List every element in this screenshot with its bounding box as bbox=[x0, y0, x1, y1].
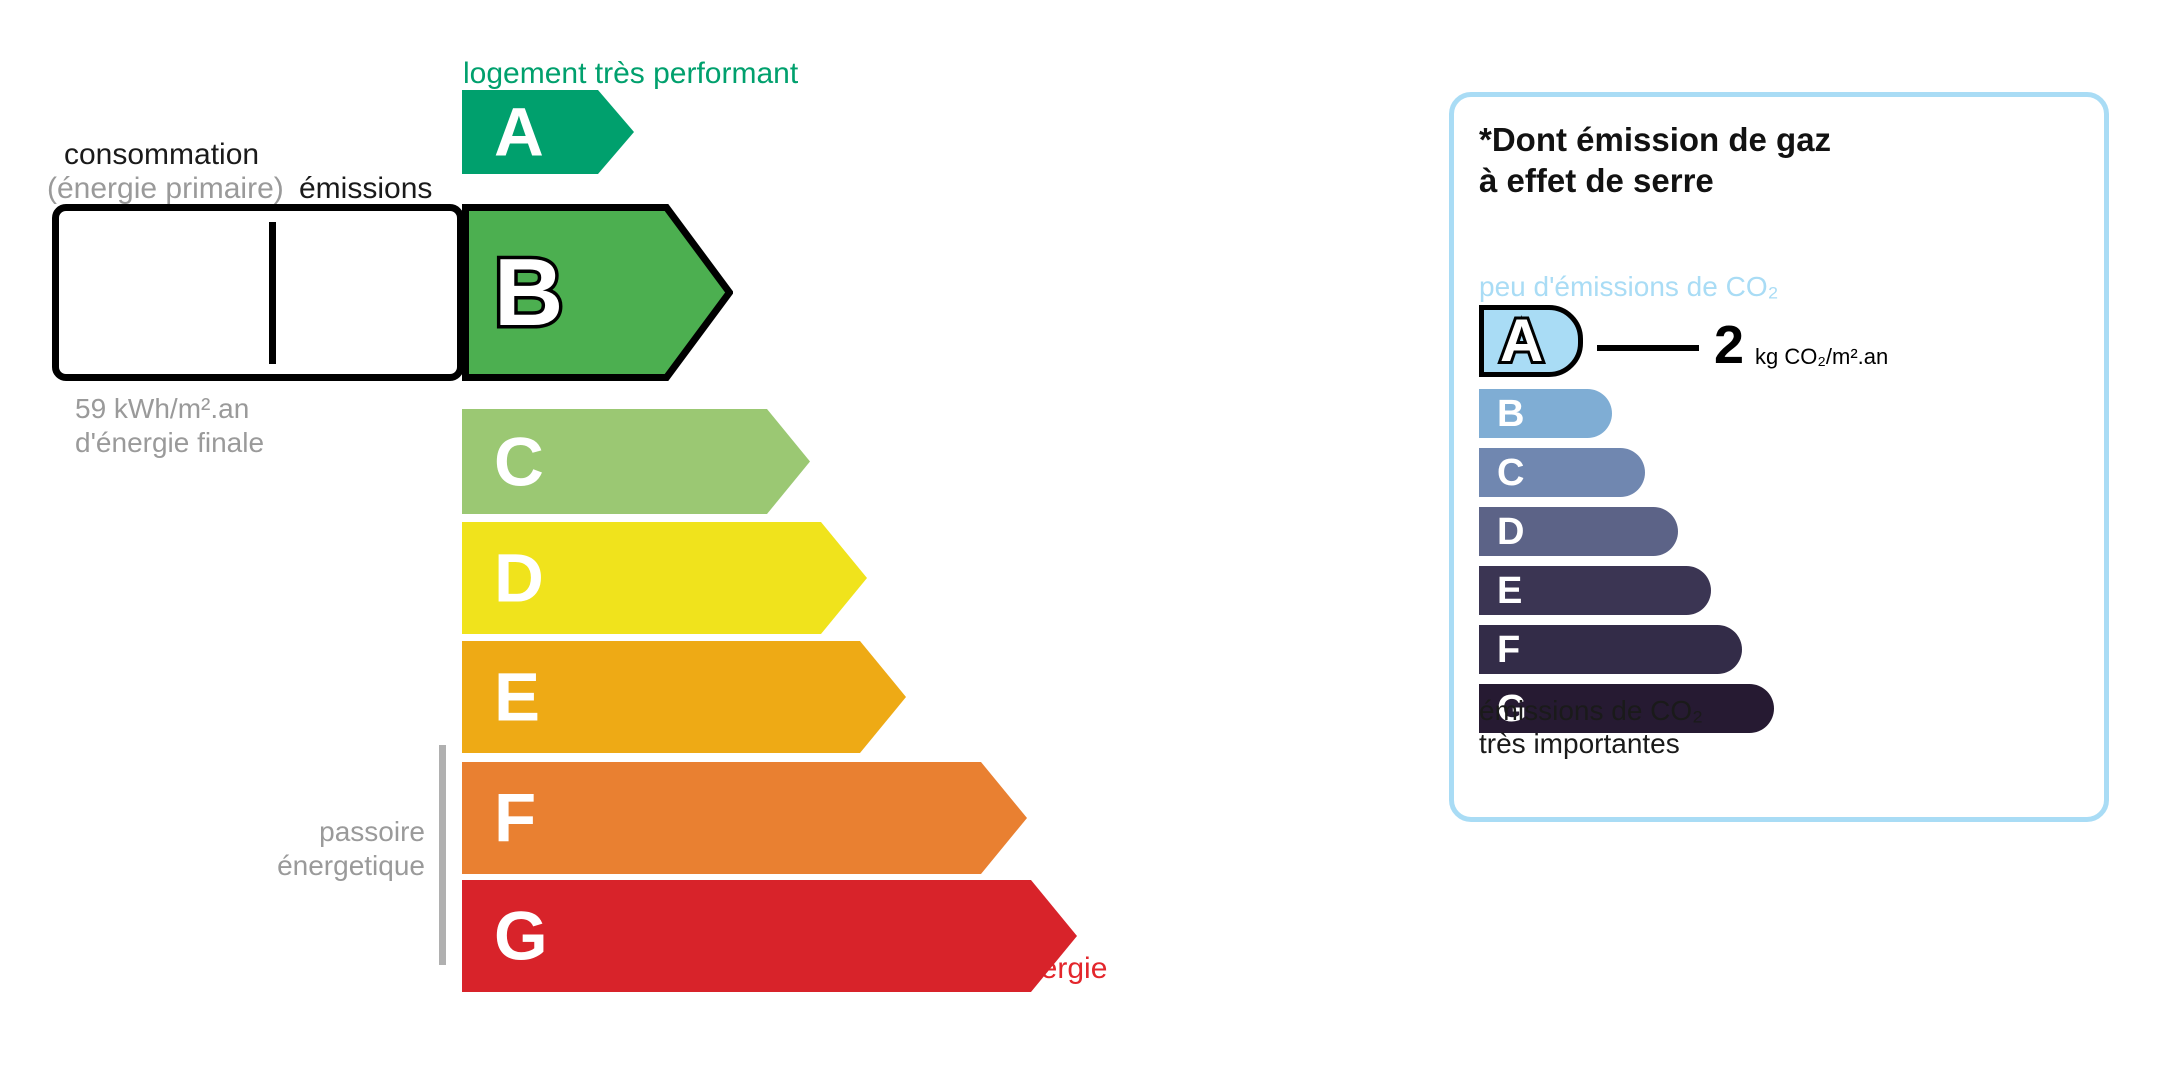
label-emissions: émissions bbox=[299, 172, 432, 206]
ges-connector-line bbox=[1597, 345, 1699, 351]
arrow-shape-c: C bbox=[462, 409, 810, 514]
ges-bar-letter-b: B bbox=[1497, 395, 1524, 433]
ges-bar-shape-e: E bbox=[1479, 566, 1711, 615]
ges-panel-title: *Dont émission de gazà effet de serre bbox=[1479, 119, 1831, 201]
final-energy-note: 59 kWh/m².and'énergie finale bbox=[75, 392, 264, 460]
energy-class-arrow-d: D bbox=[462, 522, 867, 634]
ges-top-label: peu d'émissions de CO₂ bbox=[1479, 271, 1778, 303]
ges-bar-shape-c: C bbox=[1479, 448, 1645, 497]
ges-class-bar-b: B bbox=[1479, 389, 1612, 438]
energy-class-arrow-e: E bbox=[462, 641, 906, 753]
arrow-shape-e: E bbox=[462, 641, 906, 753]
ges-bar-letter-a: A bbox=[1500, 311, 1543, 371]
energy-class-arrow-b: B bbox=[462, 204, 733, 381]
arrow-shape-a: A bbox=[462, 90, 634, 174]
ges-bar-letter-c: C bbox=[1497, 454, 1524, 492]
ges-class-bar-f: F bbox=[1479, 625, 1742, 674]
caption-top-performance: logement très performant bbox=[463, 57, 798, 91]
ges-bar-letter-d: D bbox=[1497, 513, 1524, 551]
value-box-divider bbox=[269, 222, 276, 364]
ges-class-bar-d: D bbox=[1479, 507, 1678, 556]
arrow-shape-d: D bbox=[462, 522, 867, 634]
arrow-shape-f: F bbox=[462, 762, 1027, 874]
value-box bbox=[52, 204, 464, 381]
energy-class-arrow-f: F bbox=[462, 762, 1027, 874]
ges-class-bar-c: C bbox=[1479, 448, 1645, 497]
ges-bar-shape-f: F bbox=[1479, 625, 1742, 674]
ges-bar-letter-e: E bbox=[1497, 572, 1522, 610]
passoire-marker-bar bbox=[439, 745, 446, 965]
energy-class-arrow-g: G bbox=[462, 880, 1077, 992]
ges-value: 2 bbox=[1714, 315, 1744, 375]
ges-class-bar-a: A bbox=[1479, 305, 1583, 377]
ges-bottom-label: émissions de CO₂très importantes bbox=[1479, 694, 1703, 760]
label-consommation: consommation bbox=[64, 138, 259, 172]
label-energie-primaire: (énergie primaire) bbox=[47, 172, 284, 206]
energy-class-arrow-c: C bbox=[462, 409, 810, 514]
ges-bar-shape-d: D bbox=[1479, 507, 1678, 556]
ges-class-bar-e: E bbox=[1479, 566, 1711, 615]
ges-bar-shape-b: B bbox=[1479, 389, 1612, 438]
arrow-shape-b: B bbox=[462, 204, 733, 381]
energy-class-arrow-a: A bbox=[462, 90, 634, 174]
ges-value-unit: kg CO₂/m².an bbox=[1755, 344, 1888, 370]
ges-bar-shape-a: A bbox=[1479, 305, 1583, 377]
energy-performance-diagram: consommation (énergie primaire) émission… bbox=[0, 0, 1380, 1079]
ges-bar-letter-f: F bbox=[1497, 631, 1520, 669]
arrow-shape-g: G bbox=[462, 880, 1077, 992]
passoire-label: passoireénergetique bbox=[260, 815, 425, 883]
